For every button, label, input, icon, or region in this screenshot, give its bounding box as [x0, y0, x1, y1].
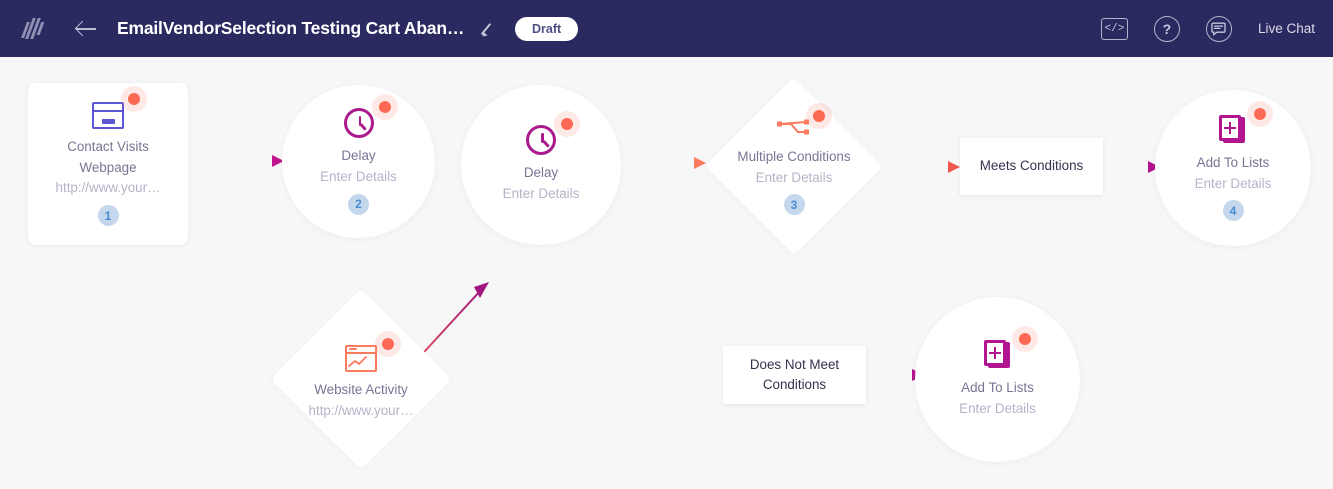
alert-dot-icon [1012, 326, 1038, 352]
status-badge[interactable]: Draft [515, 17, 578, 41]
node-subtitle: Enter Details [503, 184, 580, 205]
node-step-number: 4 [1223, 200, 1244, 221]
node-subtitle: http://www.your… [309, 401, 414, 422]
node-subtitle: Enter Details [1195, 174, 1272, 195]
node-multiple-conditions[interactable]: Multiple Conditions Enter Details 3 [731, 103, 857, 229]
node-website-activity[interactable]: Website Activity http://www.your… [297, 315, 425, 443]
node-icon-area [344, 108, 374, 138]
edit-pencil-icon[interactable] [479, 21, 495, 37]
app-logo[interactable] [18, 14, 48, 44]
node-icon-area [92, 102, 124, 129]
label-text: Does Not Meet [750, 355, 839, 375]
node-delay-2[interactable]: Delay Enter Details [461, 85, 621, 245]
back-arrow-icon[interactable] [75, 18, 97, 40]
edge-contact-to-delay1 [189, 155, 284, 167]
help-icon[interactable]: ? [1154, 16, 1180, 42]
node-subtitle: Enter Details [959, 399, 1036, 420]
node-title: Delay [341, 146, 375, 167]
node-subtitle: Enter Details [756, 168, 833, 189]
node-step-number: 2 [348, 194, 369, 215]
node-title: Add To Lists [961, 378, 1034, 399]
node-delay-1[interactable]: Delay Enter Details 2 [282, 85, 435, 238]
clock-icon [344, 108, 374, 138]
node-add-to-lists-1[interactable]: Add To Lists Enter Details 4 [1155, 90, 1311, 246]
chat-bubble-icon[interactable] [1206, 16, 1232, 42]
document-plus-icon [1219, 115, 1247, 145]
node-subtitle: http://www.your… [56, 178, 161, 199]
alert-dot-icon [372, 94, 398, 120]
node-add-to-lists-2[interactable]: Add To Lists Enter Details [915, 297, 1080, 462]
workflow-title: EmailVendorSelection Testing Cart Abando… [117, 18, 469, 39]
node-icon-area [345, 345, 377, 372]
alert-dot-icon [375, 331, 401, 357]
chat-bubble-glyph [1211, 22, 1226, 36]
code-icon[interactable]: </> [1101, 18, 1128, 40]
node-title: Multiple Conditions [737, 147, 850, 168]
clock-icon [526, 125, 556, 155]
node-title: Add To Lists [1197, 153, 1270, 174]
edge-meets-to-add-to-lists-1 [1104, 161, 1160, 173]
workflow-connectors [0, 57, 1333, 489]
workflow-canvas[interactable]: Contact Visits Webpage http://www.your… … [0, 57, 1333, 489]
label-does-not-meet-conditions[interactable]: Does Not Meet Conditions [723, 346, 866, 404]
node-icon-area [776, 117, 812, 139]
node-title: Website Activity [314, 380, 408, 401]
browser-icon [92, 102, 124, 129]
node-title: Contact Visits [67, 137, 149, 158]
node-step-number: 1 [98, 205, 119, 226]
live-chat-link[interactable]: Live Chat [1258, 21, 1315, 36]
header-actions: </> ? Live Chat [1101, 16, 1315, 42]
app-header: EmailVendorSelection Testing Cart Abando… [0, 0, 1333, 57]
document-plus-icon [984, 340, 1012, 370]
label-text: Meets Conditions [980, 156, 1083, 176]
alert-dot-icon [121, 86, 147, 112]
node-subtitle: Enter Details [320, 167, 397, 188]
alert-dot-icon [554, 111, 580, 137]
node-title-line2: Webpage [79, 158, 136, 179]
alert-dot-icon [806, 103, 832, 129]
label-meets-conditions[interactable]: Meets Conditions [960, 138, 1103, 195]
node-icon-area [526, 125, 556, 155]
node-title: Delay [524, 163, 558, 184]
alert-dot-icon [1247, 101, 1273, 127]
label-text-line2: Conditions [763, 375, 826, 395]
node-icon-area [1219, 115, 1247, 145]
node-contact-visits-webpage[interactable]: Contact Visits Webpage http://www.your… … [28, 83, 188, 245]
browser-chart-icon [345, 345, 377, 372]
node-icon-area [984, 340, 1012, 370]
node-step-number: 3 [784, 194, 805, 215]
